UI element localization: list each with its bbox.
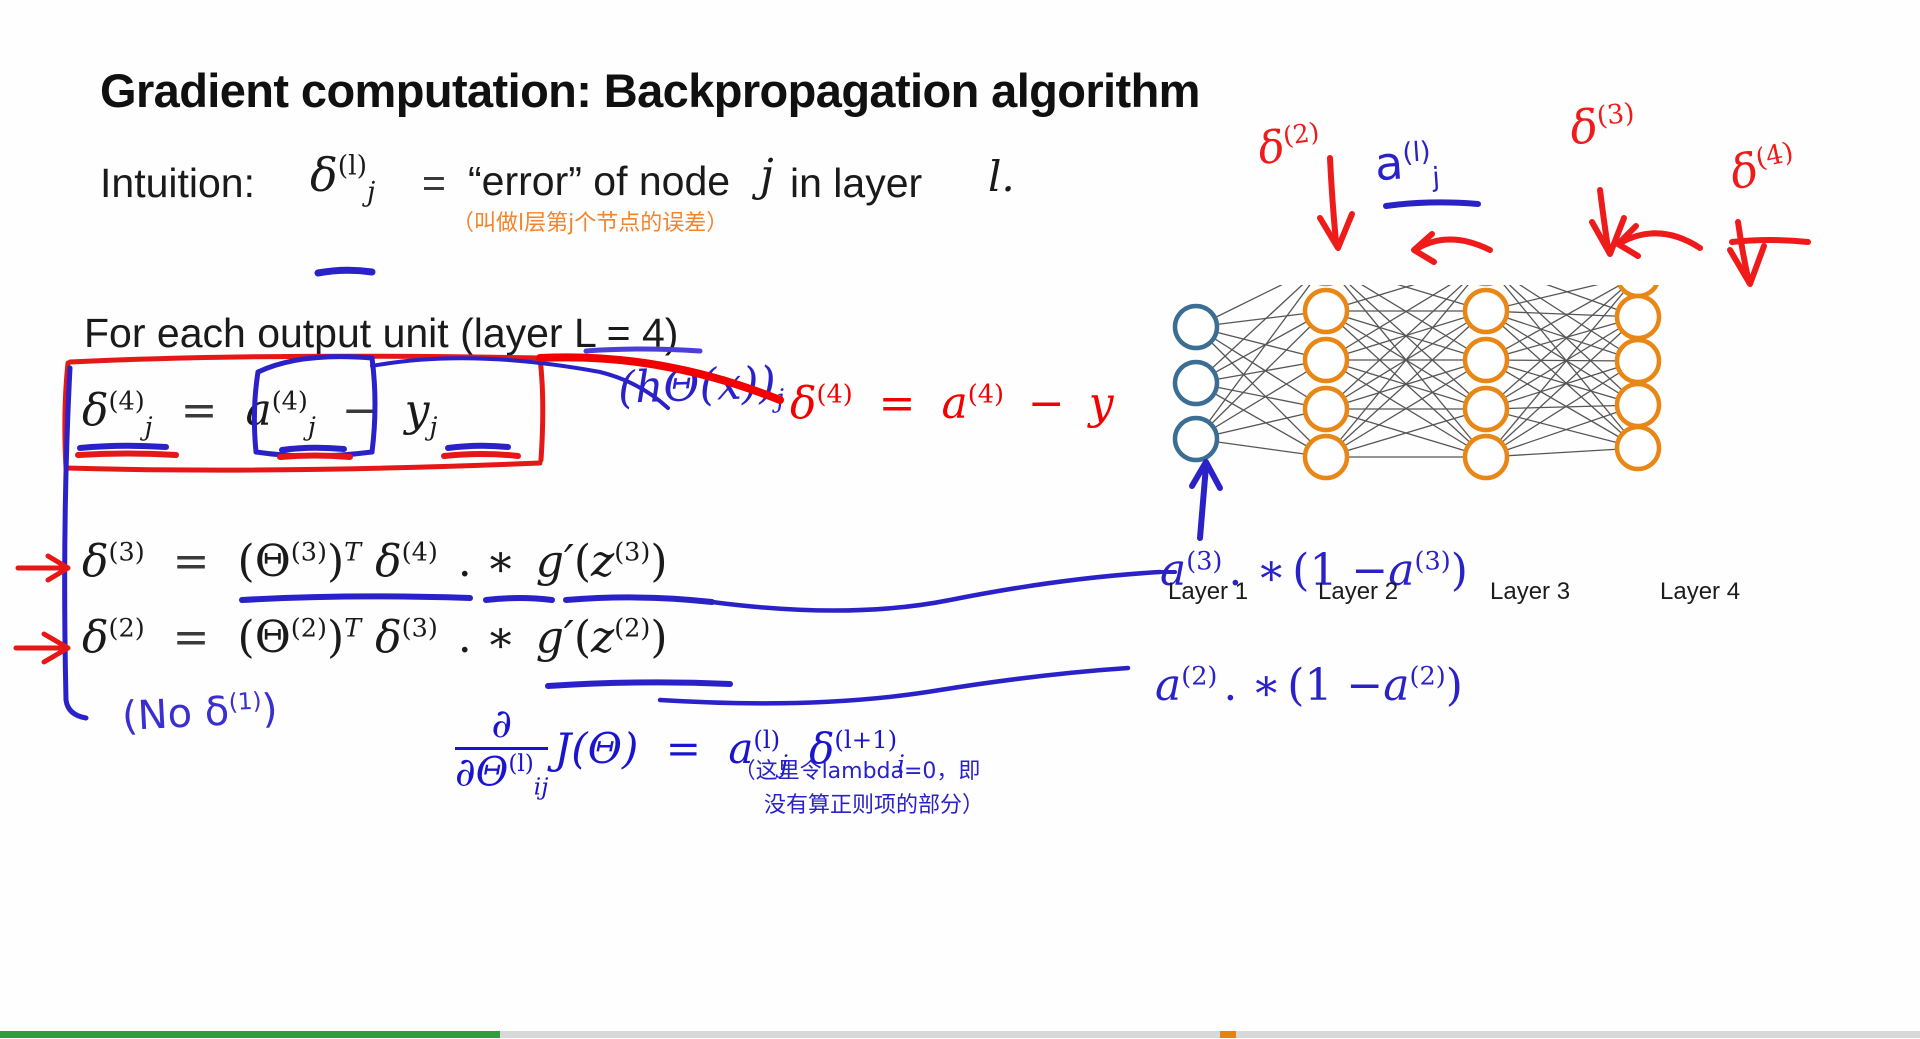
red-arrow-layer3-shaft <box>1600 190 1608 248</box>
bottom-strip-progress[interactable] <box>0 1031 500 1038</box>
d3-lhs: δ <box>82 536 109 587</box>
denom-sup: (l) <box>508 751 533 777</box>
network-nodes-layer3 <box>1465 285 1507 478</box>
network-layer-label-1: Layer 1 <box>1168 578 1248 606</box>
red-arrow-delta3-head <box>48 556 68 580</box>
d3-delta-next: δ <box>375 536 402 587</box>
d4-lhs-sub: j <box>145 412 153 442</box>
equation-delta4: δ(4)j = a(4)j − yj <box>82 385 437 442</box>
d2-gprime: g′ <box>536 612 574 663</box>
layer-index-l: l. <box>988 152 1015 201</box>
delta-glyph: δ <box>310 148 338 202</box>
delta-superscript: (l) <box>338 151 367 182</box>
blue-underline-op3 <box>486 598 552 600</box>
gradient-a-sup: (l) <box>753 725 780 754</box>
d3-op: . ∗ <box>452 536 522 587</box>
network-nodes-layer2 <box>1305 285 1347 478</box>
handwriting-no-delta1: (No δ(1)) <box>121 686 279 740</box>
node-index-j: j <box>760 150 774 201</box>
red-box-top <box>70 356 540 362</box>
d2-lhs-sup: (2) <box>109 613 145 643</box>
top-d2-sup: (2) <box>1281 117 1321 152</box>
d2-z: z <box>591 612 614 663</box>
top-a-sym: a <box>1373 135 1405 191</box>
top-a-sup: (l) <box>1401 136 1431 169</box>
network-layer-label-4: Layer 4 <box>1660 578 1740 606</box>
red-a-sym: a <box>942 378 968 429</box>
handwriting-delta2-top: δ(2) <box>1255 116 1324 175</box>
blue-underline-delta-j <box>318 270 372 273</box>
slide-canvas: Gradient computation: Backpropagation al… <box>0 0 1920 1039</box>
d2-theta-sup: (2) <box>291 613 327 643</box>
d4-y-sym: y <box>405 385 430 436</box>
d4-minus: − <box>330 385 391 436</box>
d2-delta-next: δ <box>375 612 402 663</box>
blue-underline-a-j-l <box>1386 202 1478 206</box>
red-arrow-layer2-shaft <box>1330 158 1336 242</box>
d3-theta-sup: (3) <box>291 537 327 567</box>
d3-lhs-sup: (3) <box>109 537 145 567</box>
red-underline-delta4-top <box>1732 240 1808 242</box>
handwriting-a-j-l-top: a(l)j <box>1373 133 1441 197</box>
denom-sub: ij <box>534 774 549 800</box>
red-box-left <box>65 363 68 468</box>
d2-theta: Θ <box>255 612 291 663</box>
gradient-numerator: ∂ <box>455 705 548 745</box>
top-a-sub: j <box>1431 162 1441 193</box>
red-underline-a4 <box>280 456 350 458</box>
blue-bracket-a4-top <box>258 357 372 372</box>
red-curve-layer2-back <box>1418 239 1490 250</box>
blue-connector-gprime2-to-a2 <box>660 668 1128 703</box>
blue-bracket-a4-bottom <box>256 452 372 456</box>
gradient-denominator: ∂Θ(l)ij <box>455 752 548 800</box>
blue-underline-yj <box>448 446 508 448</box>
a3-close: ) <box>1451 545 1468 596</box>
network-nodes-layer4 <box>1617 285 1659 469</box>
red-a-sup: (4) <box>968 379 1004 409</box>
no-delta1-sup: (1) <box>228 687 262 716</box>
red-arrow-layer4-head <box>1730 246 1764 284</box>
network-edges <box>1196 285 1638 457</box>
for-each-output-unit-text: For each output unit (layer L = 4) <box>84 310 678 357</box>
blue-connector-gprime3-to-a3 <box>712 572 1160 611</box>
gradient-fraction: ∂ ∂Θ(l)ij <box>455 705 548 799</box>
d3-equals: = <box>159 536 224 587</box>
bottom-strip-remaining <box>1236 1031 1920 1038</box>
gradient-delta-sup: (l+1) <box>834 725 897 754</box>
intuition-in-layer: in layer <box>790 160 922 207</box>
red-d-sup: (4) <box>817 379 853 409</box>
network-nodes-layer1 <box>1175 306 1217 460</box>
network-layer-label-2: Layer 2 <box>1318 578 1398 606</box>
red-curve-layer3-head <box>1618 226 1638 256</box>
network-layer-label-3: Layer 3 <box>1490 578 1570 606</box>
a2-op: . ∗ <box>1217 660 1287 711</box>
top-d4-sup: (4) <box>1753 136 1796 174</box>
no-delta1-text: (No δ <box>121 688 230 740</box>
chinese-note-orange: （叫做l层第j个节点的误差） <box>452 205 728 237</box>
red-equals: = <box>867 378 928 429</box>
chinese-note-blue-line2: 没有算正则项的部分） <box>730 789 984 823</box>
handwriting-a2-derivative: a(2). ∗(1 −a(2)) <box>1155 660 1463 711</box>
d2-lhs: δ <box>82 612 109 663</box>
no-delta1-close: ) <box>261 686 279 733</box>
d4-y-sub: j <box>430 412 438 442</box>
blue-underline-d4-lhs <box>80 446 166 448</box>
a2-a2: a <box>1383 660 1409 711</box>
gradient-J: J(Θ) <box>548 724 638 773</box>
a2-sup: (2) <box>1181 661 1217 691</box>
d3-z: z <box>591 536 614 587</box>
red-arrow-layer3-head <box>1592 218 1624 254</box>
d2-delta-next-sup: (3) <box>402 613 438 643</box>
bottom-strip-marker[interactable] <box>1220 1031 1236 1038</box>
red-curve-layer3-back <box>1622 233 1700 248</box>
h-theta-sub: j <box>776 384 785 414</box>
red-minus: − <box>1018 378 1075 429</box>
blue-underline-gprime3 <box>566 597 712 602</box>
page-title: Gradient computation: Backpropagation al… <box>100 63 1200 118</box>
red-box-bottom <box>66 463 540 470</box>
red-curve-layer2-head <box>1414 234 1434 262</box>
handwriting-delta3-top: δ(3) <box>1567 95 1638 156</box>
d4-a-sup: (4) <box>272 386 308 416</box>
a3-sup: (3) <box>1186 546 1222 576</box>
red-underline-yj <box>444 454 518 456</box>
d2-op: . ∗ <box>452 612 522 663</box>
red-arrow-layer2-head <box>1320 214 1352 248</box>
blue-underline-a4 <box>282 448 344 450</box>
a2-open: (1 − <box>1287 660 1383 711</box>
neural-network-diagram <box>1168 285 1776 535</box>
red-equation-delta4-vector: δ(4) = a(4) − y <box>790 378 1114 429</box>
top-d3-sup: (3) <box>1595 97 1636 132</box>
d2-equals: = <box>159 612 224 663</box>
delta-j-l-symbol: δ(l)j <box>310 148 375 208</box>
red-arrow-layer4-shaft <box>1738 222 1748 278</box>
intuition-error-phrase: “error” of node <box>468 158 730 205</box>
chinese-note-blue: （这里令lambda=0，即 没有算正则项的部分） <box>730 755 984 823</box>
a2-close: ) <box>1446 660 1463 711</box>
intuition-equals: = <box>422 160 446 207</box>
equation-delta3: δ(3) = (Θ(3))T δ(4) . ∗ g′(z(3)) <box>82 536 668 587</box>
handwriting-delta4-top: δ(4) <box>1725 134 1800 200</box>
h-theta-text: (hΘ(x)) <box>617 357 777 413</box>
red-box-right <box>540 358 543 460</box>
a3-sup2: (3) <box>1415 546 1451 576</box>
red-y-sym: y <box>1089 378 1114 429</box>
denom-partial-theta: ∂Θ <box>455 749 508 795</box>
d3-transpose: T <box>344 537 361 567</box>
d3-theta: Θ <box>255 536 291 587</box>
red-d-sym: δ <box>790 378 817 429</box>
delta-subscript: j <box>367 177 375 208</box>
d3-z-sup: (3) <box>614 537 650 567</box>
a2-a: a <box>1155 660 1181 711</box>
d3-gprime: g′ <box>536 536 574 587</box>
handwriting-h-theta: (hΘ(x))j <box>617 357 785 420</box>
blue-underline-theta3T <box>242 596 470 600</box>
d2-transpose: T <box>344 613 361 643</box>
d4-a-sym: a <box>245 385 271 436</box>
a2-sup2: (2) <box>1410 661 1446 691</box>
intuition-label: Intuition: <box>100 160 255 207</box>
d4-equals: = <box>167 385 232 436</box>
gradient-equals: = <box>652 724 715 773</box>
chinese-note-blue-line1: （这里令lambda=0，即 <box>730 755 984 789</box>
red-arrow-delta2-head <box>44 634 68 662</box>
d4-lhs-sym: δ <box>82 385 109 436</box>
red-underline-d4-lhs <box>78 454 176 456</box>
d4-a-sub: j <box>308 412 316 442</box>
d4-lhs-sup: (4) <box>109 386 145 416</box>
blue-underline-gprime2 <box>548 682 730 686</box>
bottom-strip-background <box>500 1031 1220 1038</box>
equation-delta2: δ(2) = (Θ(2))T δ(3) . ∗ g′(z(2)) <box>82 612 668 663</box>
d3-delta-next-sup: (4) <box>402 537 438 567</box>
d2-z-sup: (2) <box>614 613 650 643</box>
